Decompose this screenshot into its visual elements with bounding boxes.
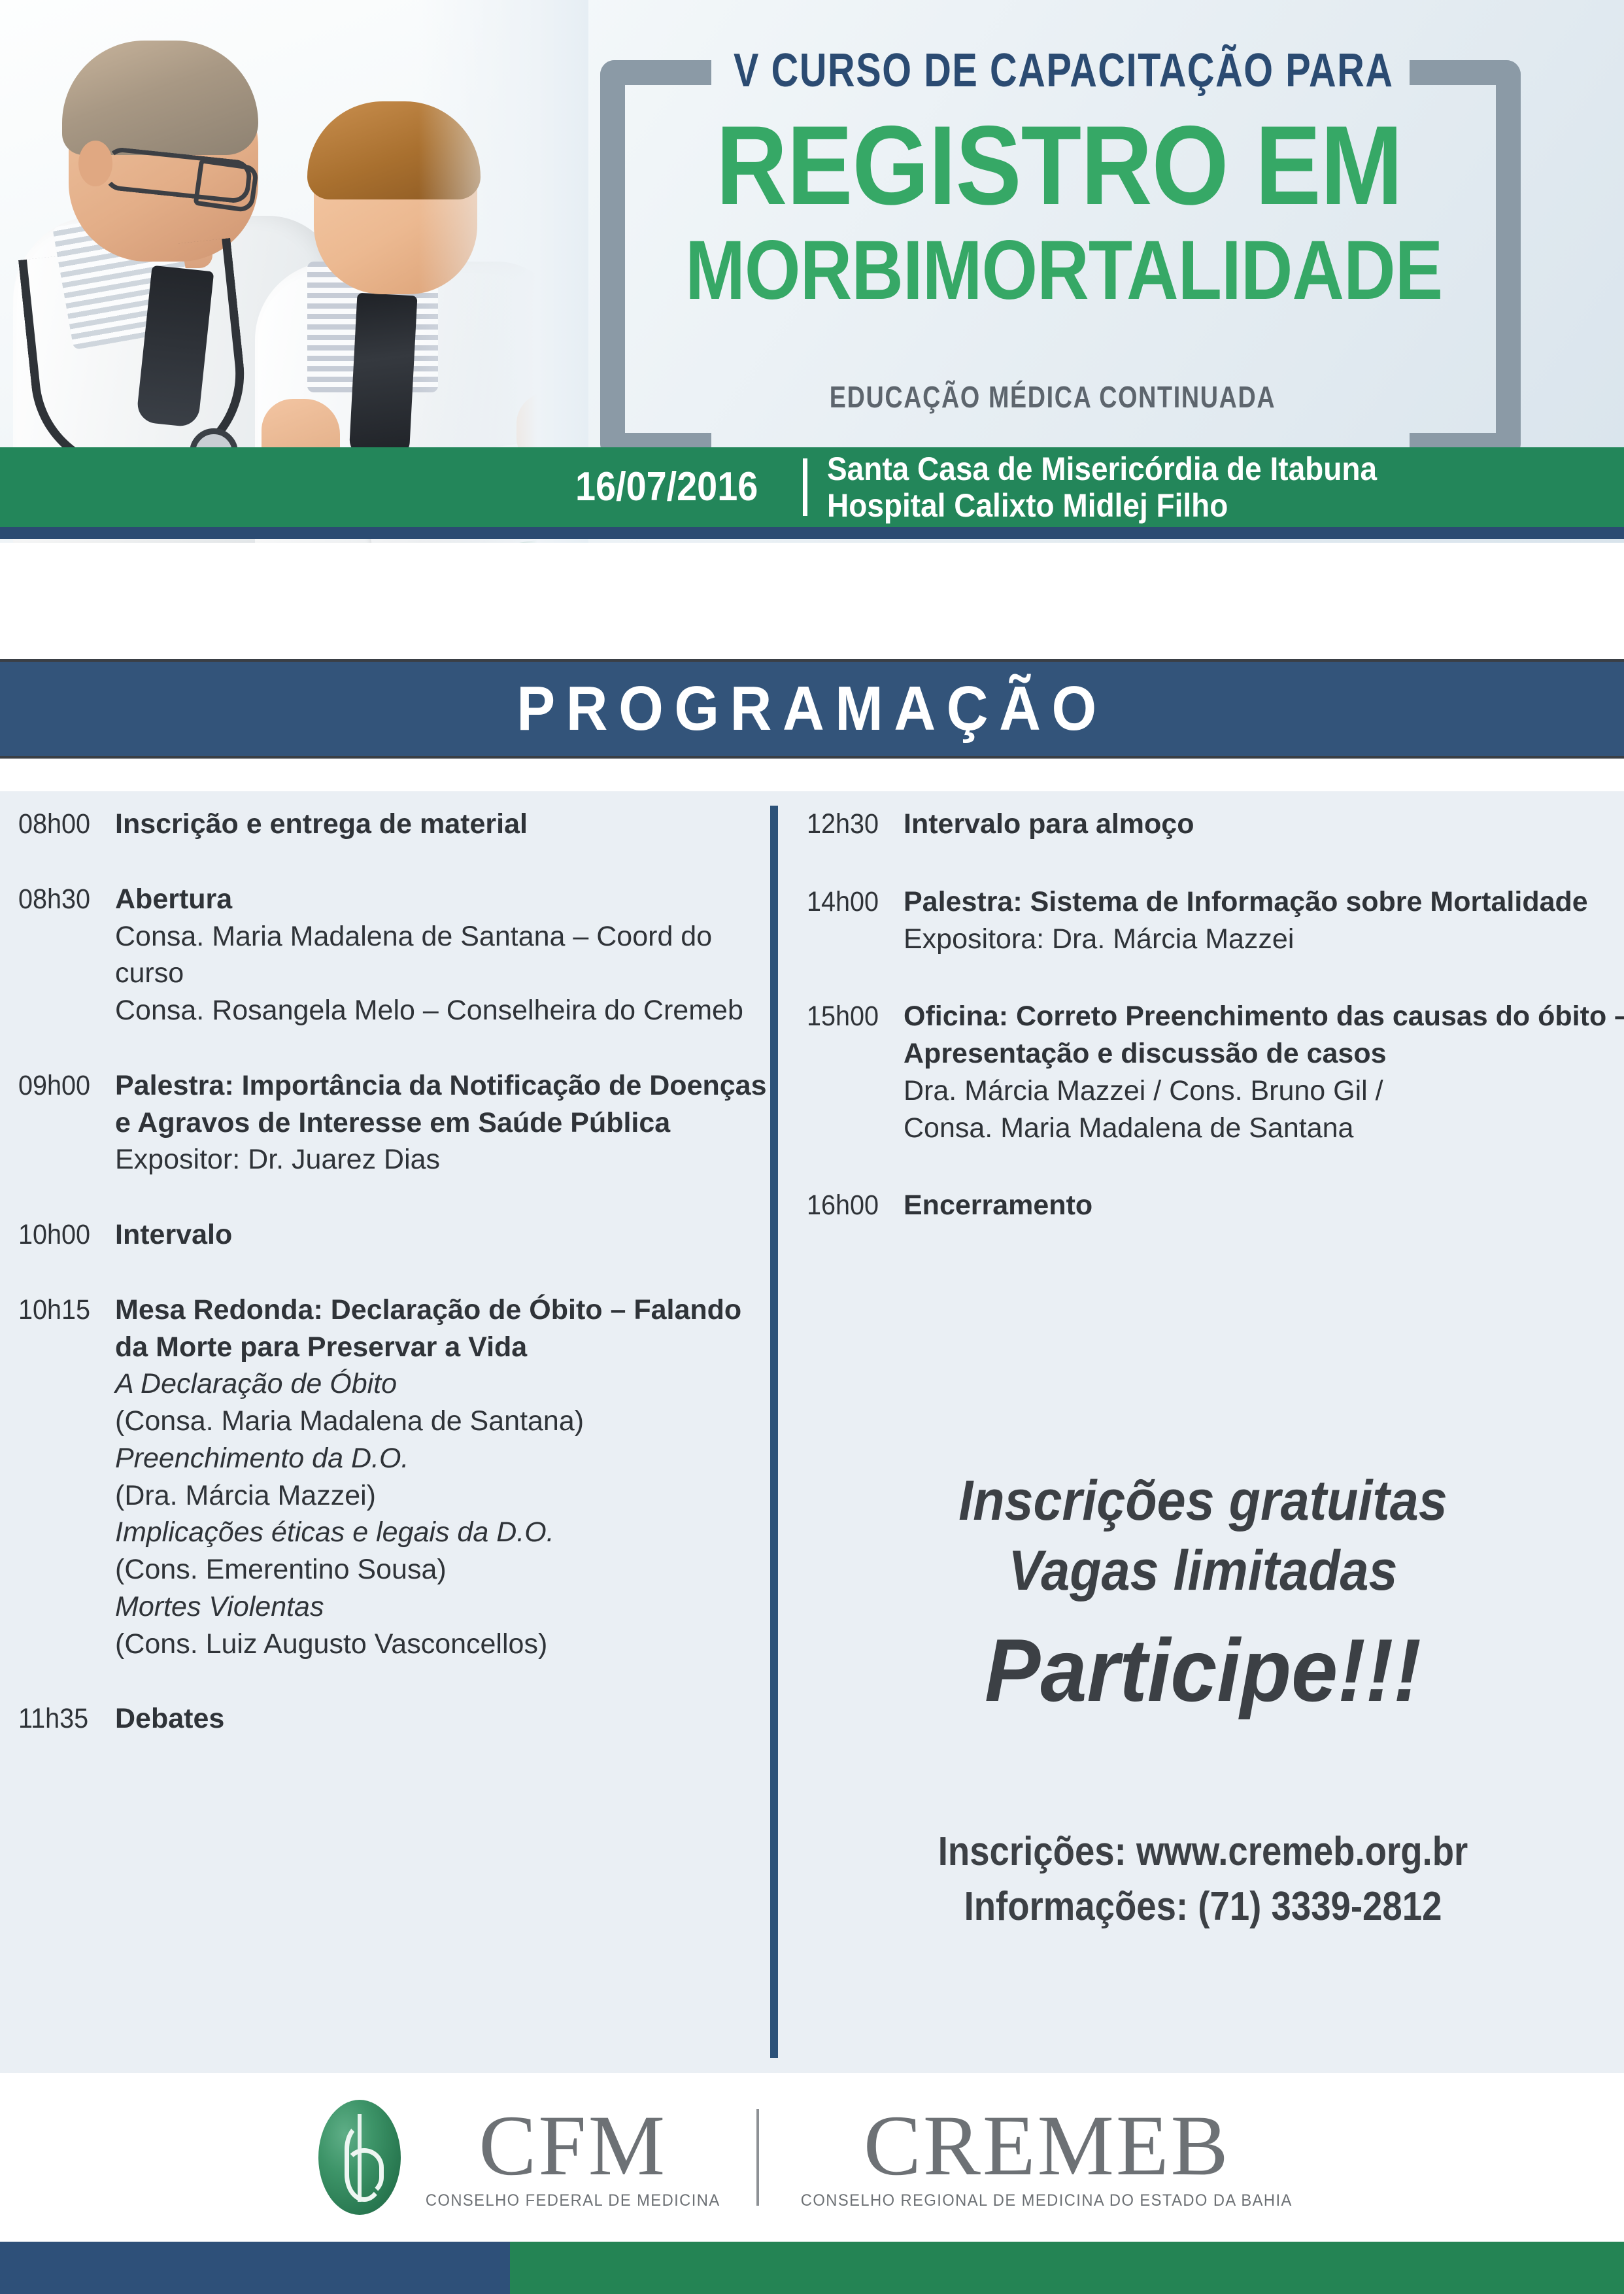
- schedule-time: 12h30: [807, 806, 896, 843]
- cremeb-logo: CREMEB CONSELHO REGIONAL DE MEDICINA DO …: [788, 2104, 1306, 2210]
- poster-subtitle: EDUCAÇÃO MÉDICA CONTINUADA: [726, 379, 1379, 415]
- schedule-item: 08h30AberturaConsa. Maria Madalena de Sa…: [18, 881, 770, 1029]
- cfm-name: CFM: [479, 2104, 667, 2187]
- poster-title-line1: REGISTRO EM: [677, 111, 1442, 220]
- information-phone[interactable]: Informações: (71) 3339-2812: [832, 1879, 1573, 1934]
- poster-footer: CFM CONSELHO FEDERAL DE MEDICINA CREMEB …: [0, 2073, 1624, 2242]
- schedule-time: 08h30: [18, 881, 107, 1029]
- promo-participate: Participe!!!: [807, 1615, 1599, 1726]
- schedule-time: 08h00: [18, 806, 107, 843]
- schedule-time: 10h15: [18, 1292, 107, 1663]
- event-date: 16/07/2016: [575, 467, 758, 507]
- column-divider: [770, 806, 778, 2058]
- schedule-title: Oficina: Correto Preenchimento das causa…: [904, 998, 1624, 1072]
- schedule-description: AberturaConsa. Maria Madalena de Santana…: [115, 881, 770, 1029]
- schedule-item: 11h35Debates: [18, 1700, 770, 1738]
- registration-url[interactable]: Inscrições: www.cremeb.org.br: [832, 1824, 1573, 1879]
- schedule-speaker: (Cons. Emerentino Sousa): [115, 1551, 770, 1588]
- schedule-topic: Mortes Violentas: [115, 1588, 770, 1626]
- schedule-item: 14h00Palestra: Sistema de Informação sob…: [807, 883, 1624, 958]
- schedule-speaker: Expositora: Dra. Márcia Mazzei: [904, 921, 1624, 958]
- promo-line-2: Vagas limitadas: [816, 1536, 1591, 1606]
- poster-header: V CURSO DE CAPACITAÇÃO PARA REGISTRO EM …: [0, 0, 1624, 543]
- program-banner-title: PROGRAMAÇÃO: [516, 673, 1107, 745]
- date-venue-band: 16/07/2016 Santa Casa de Misericórdia de…: [0, 447, 1624, 527]
- cremeb-name: CREMEB: [864, 2104, 1230, 2187]
- schedule-item: 12h30Intervalo para almoço: [807, 806, 1624, 843]
- schedule-time: 15h00: [807, 998, 896, 1146]
- schedule-description: Palestra: Importância da Notificação de …: [115, 1067, 770, 1178]
- schedule-description: Mesa Redonda: Declaração de Óbito – Fala…: [115, 1292, 770, 1663]
- schedule-title: Mesa Redonda: Declaração de Óbito – Fala…: [115, 1292, 770, 1366]
- schedule-speaker: Consa. Maria Madalena de Santana – Coord…: [115, 918, 770, 993]
- schedule-description: Intervalo: [115, 1216, 770, 1254]
- footer-color-bar: [0, 2242, 1624, 2294]
- schedule-speaker: (Cons. Luiz Augusto Vasconcellos): [115, 1626, 770, 1663]
- cfm-logo: CFM CONSELHO FEDERAL DE MEDICINA: [418, 2104, 728, 2210]
- schedule-description: Intervalo para almoço: [904, 806, 1624, 843]
- promo-block: Inscrições gratuitas Vagas limitadas Par…: [782, 1466, 1624, 1726]
- schedule-speaker: Dra. Márcia Mazzei / Cons. Bruno Gil /: [904, 1072, 1624, 1110]
- schedule-description: Encerramento: [904, 1187, 1624, 1224]
- schedule-title: Palestra: Importância da Notificação de …: [115, 1067, 770, 1142]
- schedule-time: 14h00: [807, 883, 896, 958]
- schedule-topic: Implicações éticas e legais da D.O.: [115, 1514, 770, 1551]
- schedule-item: 08h00Inscrição e entrega de material: [18, 806, 770, 843]
- schedule-description: Debates: [115, 1700, 770, 1738]
- schedule-item: 16h00Encerramento: [807, 1187, 1624, 1224]
- schedule-title: Palestra: Sistema de Informação sobre Mo…: [904, 883, 1624, 921]
- schedule-time: 10h00: [18, 1216, 107, 1254]
- schedule-description: Palestra: Sistema de Informação sobre Mo…: [904, 883, 1624, 958]
- schedule-topic: Preenchimento da D.O.: [115, 1440, 770, 1477]
- cfm-fullname: CONSELHO FEDERAL DE MEDICINA: [426, 2191, 720, 2210]
- cremeb-fullname: CONSELHO REGIONAL DE MEDICINA DO ESTADO …: [801, 2191, 1293, 2210]
- schedule-item: 10h00Intervalo: [18, 1216, 770, 1254]
- schedule-title: Intervalo: [115, 1216, 770, 1254]
- program-banner: PROGRAMAÇÃO: [0, 659, 1624, 759]
- band-underline: [0, 527, 1624, 539]
- logo-separator: [756, 2109, 759, 2206]
- schedule-title: Debates: [115, 1700, 770, 1738]
- schedule-title: Encerramento: [904, 1187, 1624, 1224]
- venue-line2: Hospital Calixto Midlej Filho: [827, 487, 1377, 524]
- schedule-column-right: 12h30Intervalo para almoço14h00Palestra:…: [782, 806, 1624, 1265]
- schedule-time: 09h00: [18, 1067, 107, 1178]
- footer-bar-green: [510, 2242, 1624, 2294]
- schedule-title: Intervalo para almoço: [904, 806, 1624, 843]
- venue-block: Santa Casa de Misericórdia de Itabuna Ho…: [827, 451, 1377, 524]
- schedule-speaker: Consa. Rosangela Melo – Conselheira do C…: [115, 992, 770, 1029]
- schedule-speaker: Consa. Maria Madalena de Santana: [904, 1110, 1624, 1147]
- schedule-speaker: (Dra. Márcia Mazzei): [115, 1477, 770, 1515]
- schedule-speaker: Expositor: Dr. Juarez Dias: [115, 1141, 770, 1178]
- schedule-speaker: (Consa. Maria Madalena de Santana): [115, 1403, 770, 1440]
- course-kicker: V CURSO DE CAPACITAÇÃO PARA: [734, 47, 1372, 94]
- schedule-item: 09h00Palestra: Importância da Notificaçã…: [18, 1067, 770, 1178]
- schedule-topic: A Declaração de Óbito: [115, 1365, 770, 1403]
- schedule-item: 10h15Mesa Redonda: Declaração de Óbito –…: [18, 1292, 770, 1663]
- schedule-title: Inscrição e entrega de material: [115, 806, 770, 843]
- band-separator: [803, 458, 807, 516]
- schedule-description: Oficina: Correto Preenchimento das causa…: [904, 998, 1624, 1146]
- asclepius-rod-icon: [318, 2100, 401, 2215]
- poster-title-line2: MORBIMORTALIDADE: [685, 229, 1433, 313]
- schedule-description: Inscrição e entrega de material: [115, 806, 770, 843]
- schedule-column-left: 08h00Inscrição e entrega de material08h3…: [0, 806, 770, 1775]
- schedule-time: 16h00: [807, 1187, 896, 1224]
- schedule-time: 11h35: [18, 1700, 107, 1738]
- schedule-title: Abertura: [115, 881, 770, 918]
- contact-block: Inscrições: www.cremeb.org.br Informaçõe…: [782, 1824, 1624, 1935]
- schedule-item: 15h00Oficina: Correto Preenchimento das …: [807, 998, 1624, 1146]
- footer-bar-blue: [0, 2242, 510, 2294]
- venue-line1: Santa Casa de Misericórdia de Itabuna: [827, 451, 1377, 487]
- promo-line-1: Inscrições gratuitas: [816, 1466, 1591, 1536]
